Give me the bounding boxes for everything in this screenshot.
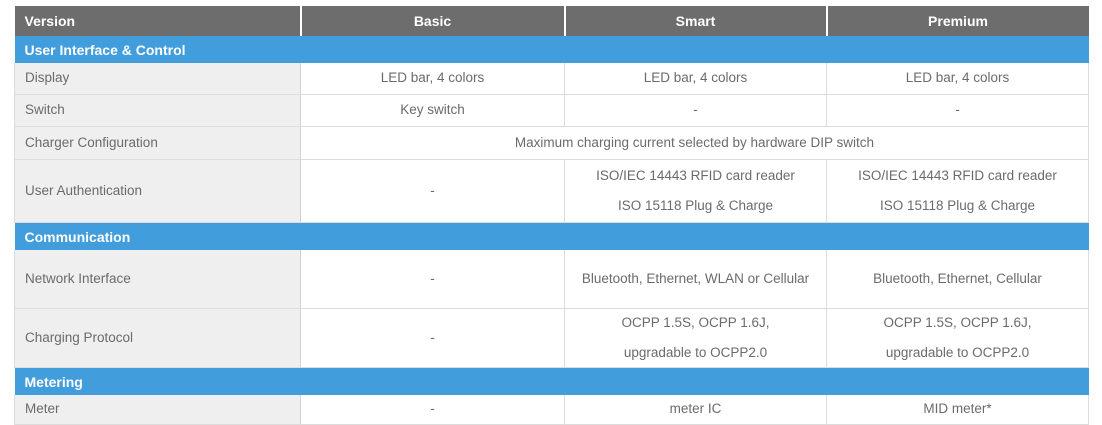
table-row: Charging Protocol - OCPP 1.5S, OCPP 1.6J… <box>15 309 1089 368</box>
section-title: User Interface & Control <box>15 36 1089 63</box>
cell-display-basic: LED bar, 4 colors <box>301 63 565 95</box>
table-row: Switch Key switch - - <box>15 95 1089 127</box>
cell-text-line: ISO/IEC 14443 RFID card reader <box>833 167 1082 185</box>
table-row: Meter - meter IC MID meter* <box>15 395 1089 425</box>
cell-meter-basic: - <box>301 395 565 425</box>
cell-text-line: OCPP 1.5S, OCPP 1.6J, <box>833 314 1082 332</box>
feature-label-meter: Meter <box>15 395 301 425</box>
table-row: Display LED bar, 4 colors LED bar, 4 col… <box>15 63 1089 95</box>
feature-label-network-interface: Network Interface <box>15 250 301 309</box>
cell-user-authentication-premium: ISO/IEC 14443 RFID card reader ISO 15118… <box>827 160 1089 223</box>
cell-text-line: upgradable to OCPP2.0 <box>571 344 820 362</box>
feature-label-charger-configuration: Charger Configuration <box>15 127 301 160</box>
cell-text-line: ISO 15118 Plug & Charge <box>571 197 820 215</box>
cell-charging-protocol-premium: OCPP 1.5S, OCPP 1.6J, upgradable to OCPP… <box>827 309 1089 368</box>
cell-text-line: ISO 15118 Plug & Charge <box>833 197 1082 215</box>
cell-switch-premium: - <box>827 95 1089 127</box>
cell-charger-configuration-all: Maximum charging current selected by har… <box>301 127 1089 160</box>
column-header-smart: Smart <box>565 6 827 36</box>
cell-text-line: upgradable to OCPP2.0 <box>833 344 1082 362</box>
table-header-row: Version Basic Smart Premium <box>15 6 1089 36</box>
cell-switch-smart: - <box>565 95 827 127</box>
section-header-metering: Metering <box>15 368 1089 396</box>
feature-label-charging-protocol: Charging Protocol <box>15 309 301 368</box>
feature-label-user-authentication: User Authentication <box>15 160 301 223</box>
cell-user-authentication-smart: ISO/IEC 14443 RFID card reader ISO 15118… <box>565 160 827 223</box>
cell-network-interface-premium: Bluetooth, Ethernet, Cellular <box>827 250 1089 309</box>
cell-network-interface-basic: - <box>301 250 565 309</box>
cell-meter-premium: MID meter* <box>827 395 1089 425</box>
column-header-premium: Premium <box>827 6 1089 36</box>
cell-text-line: OCPP 1.5S, OCPP 1.6J, <box>571 314 820 332</box>
cell-charging-protocol-basic: - <box>301 309 565 368</box>
cell-network-interface-smart: Bluetooth, Ethernet, WLAN or Cellular <box>565 250 827 309</box>
cell-display-premium: LED bar, 4 colors <box>827 63 1089 95</box>
column-header-basic: Basic <box>301 6 565 36</box>
section-header-communication: Communication <box>15 223 1089 251</box>
cell-text-line: ISO/IEC 14443 RFID card reader <box>571 167 820 185</box>
cell-meter-smart: meter IC <box>565 395 827 425</box>
feature-label-display: Display <box>15 63 301 95</box>
section-title: Communication <box>15 223 1089 251</box>
cell-switch-basic: Key switch <box>301 95 565 127</box>
version-comparison-table: Version Basic Smart Premium User Interfa… <box>14 6 1089 425</box>
table-row: Network Interface - Bluetooth, Ethernet,… <box>15 250 1089 309</box>
specification-table-container: Version Basic Smart Premium User Interfa… <box>14 6 1088 425</box>
section-title: Metering <box>15 368 1089 396</box>
column-header-version: Version <box>15 6 301 36</box>
cell-display-smart: LED bar, 4 colors <box>565 63 827 95</box>
table-row: Charger Configuration Maximum charging c… <box>15 127 1089 160</box>
cell-user-authentication-basic: - <box>301 160 565 223</box>
feature-label-switch: Switch <box>15 95 301 127</box>
cell-charging-protocol-smart: OCPP 1.5S, OCPP 1.6J, upgradable to OCPP… <box>565 309 827 368</box>
section-header-user-interface-and-control: User Interface & Control <box>15 36 1089 63</box>
table-row: User Authentication - ISO/IEC 14443 RFID… <box>15 160 1089 223</box>
